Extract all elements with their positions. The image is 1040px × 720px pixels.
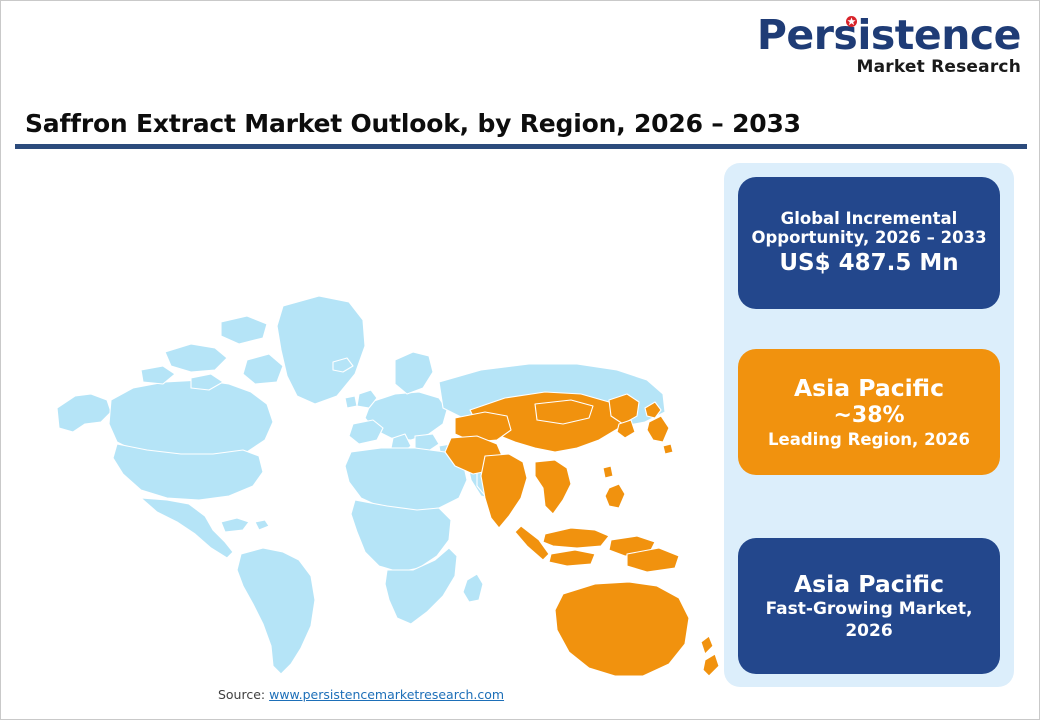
card-b-caption: Leading Region, 2026	[768, 430, 970, 449]
source-label: Source:	[218, 687, 265, 702]
card-fast-growing-market: Asia Pacific Fast-Growing Market, 2026	[738, 538, 1000, 674]
logo-wordmark: Persistence	[757, 15, 1021, 56]
infographic-page: Persistence Market Research Saffron Extr…	[0, 0, 1040, 720]
stats-panel: Global Incremental Opportunity, 2026 – 2…	[724, 163, 1014, 687]
title-divider	[15, 144, 1027, 149]
source-url-link[interactable]: www.persistencemarketresearch.com	[269, 687, 504, 702]
card-global-incremental-opportunity: Global Incremental Opportunity, 2026 – 2…	[738, 177, 1000, 309]
page-title: Saffron Extract Market Outlook, by Regio…	[25, 109, 801, 138]
source-line: Source: www.persistencemarketresearch.co…	[1, 687, 721, 702]
card-b-value: ~38%	[833, 403, 904, 429]
logo-star-icon	[846, 16, 857, 27]
card-leading-region: Asia Pacific ~38% Leading Region, 2026	[738, 349, 1000, 475]
card-b-title: Asia Pacific	[794, 375, 944, 403]
logo-tagline: Market Research	[757, 59, 1021, 76]
world-map	[15, 156, 721, 676]
card-c-caption-line2: 2026	[845, 621, 892, 641]
card-a-line1: Global Incremental	[781, 209, 958, 228]
map-highlight-asia-pacific	[445, 392, 719, 676]
card-c-caption-line1: Fast-Growing Market,	[766, 599, 973, 619]
card-a-line2: Opportunity, 2026 – 2033	[751, 228, 986, 247]
card-a-value: US$ 487.5 Mn	[779, 250, 958, 277]
company-logo: Persistence Market Research	[757, 15, 1021, 76]
card-c-title: Asia Pacific	[794, 571, 944, 599]
